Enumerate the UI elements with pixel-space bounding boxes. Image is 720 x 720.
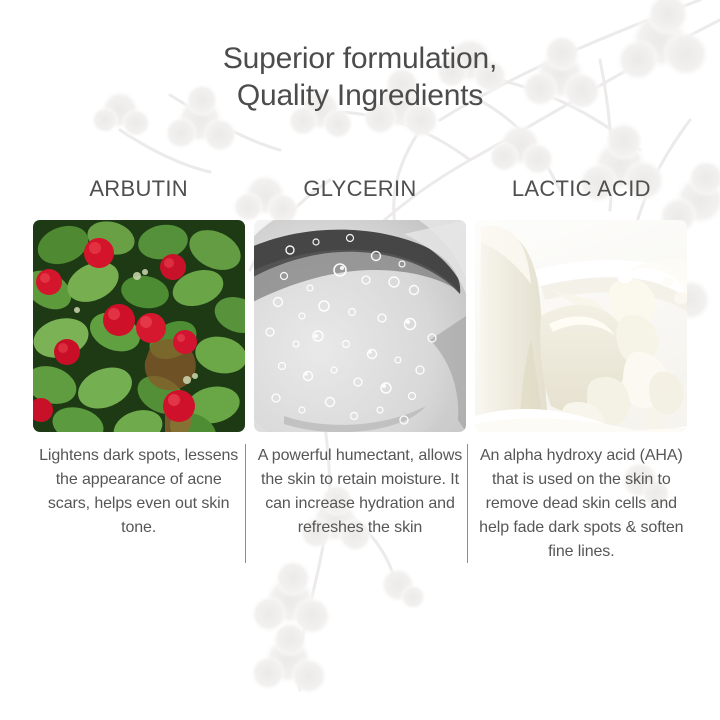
ingredient-description-wrap-arbutin: Lightens dark spots, lessens the appeara…	[33, 444, 245, 540]
bearberry-plant-photo	[33, 220, 245, 432]
ingredient-description-lactic-acid: An alpha hydroxy acid (AHA) that is used…	[478, 444, 684, 564]
ingredient-title-lactic-acid: LACTIC ACID	[512, 176, 651, 206]
ingredient-card-lactic-acid: LACTIC ACID	[471, 176, 692, 564]
ingredient-description-wrap-lactic-acid: An alpha hydroxy acid (AHA) that is used…	[475, 444, 687, 564]
page-title-line-1: Superior formulation,	[0, 40, 720, 77]
ingredient-card-glycerin: GLYCERIN	[249, 176, 470, 564]
ingredients-infographic: Superior formulation, Quality Ingredient…	[0, 0, 720, 720]
page-title-line-2: Quality Ingredients	[0, 77, 720, 114]
ingredient-description-wrap-glycerin: A powerful humectant, allows the skin to…	[254, 444, 466, 540]
column-divider-1	[245, 444, 246, 563]
ingredient-description-glycerin: A powerful humectant, allows the skin to…	[257, 444, 463, 540]
ingredient-title-glycerin: GLYCERIN	[303, 176, 416, 206]
page-title: Superior formulation, Quality Ingredient…	[0, 40, 720, 114]
ingredient-title-arbutin: ARBUTIN	[89, 176, 188, 206]
glycerin-gel-bubbles-photo	[254, 220, 466, 432]
milk-splash-photo	[475, 220, 687, 432]
ingredient-card-arbutin: ARBUTIN	[28, 176, 249, 564]
ingredient-columns: ARBUTIN	[28, 176, 692, 564]
column-divider-2	[467, 444, 468, 563]
ingredient-description-arbutin: Lightens dark spots, lessens the appeara…	[36, 444, 242, 540]
